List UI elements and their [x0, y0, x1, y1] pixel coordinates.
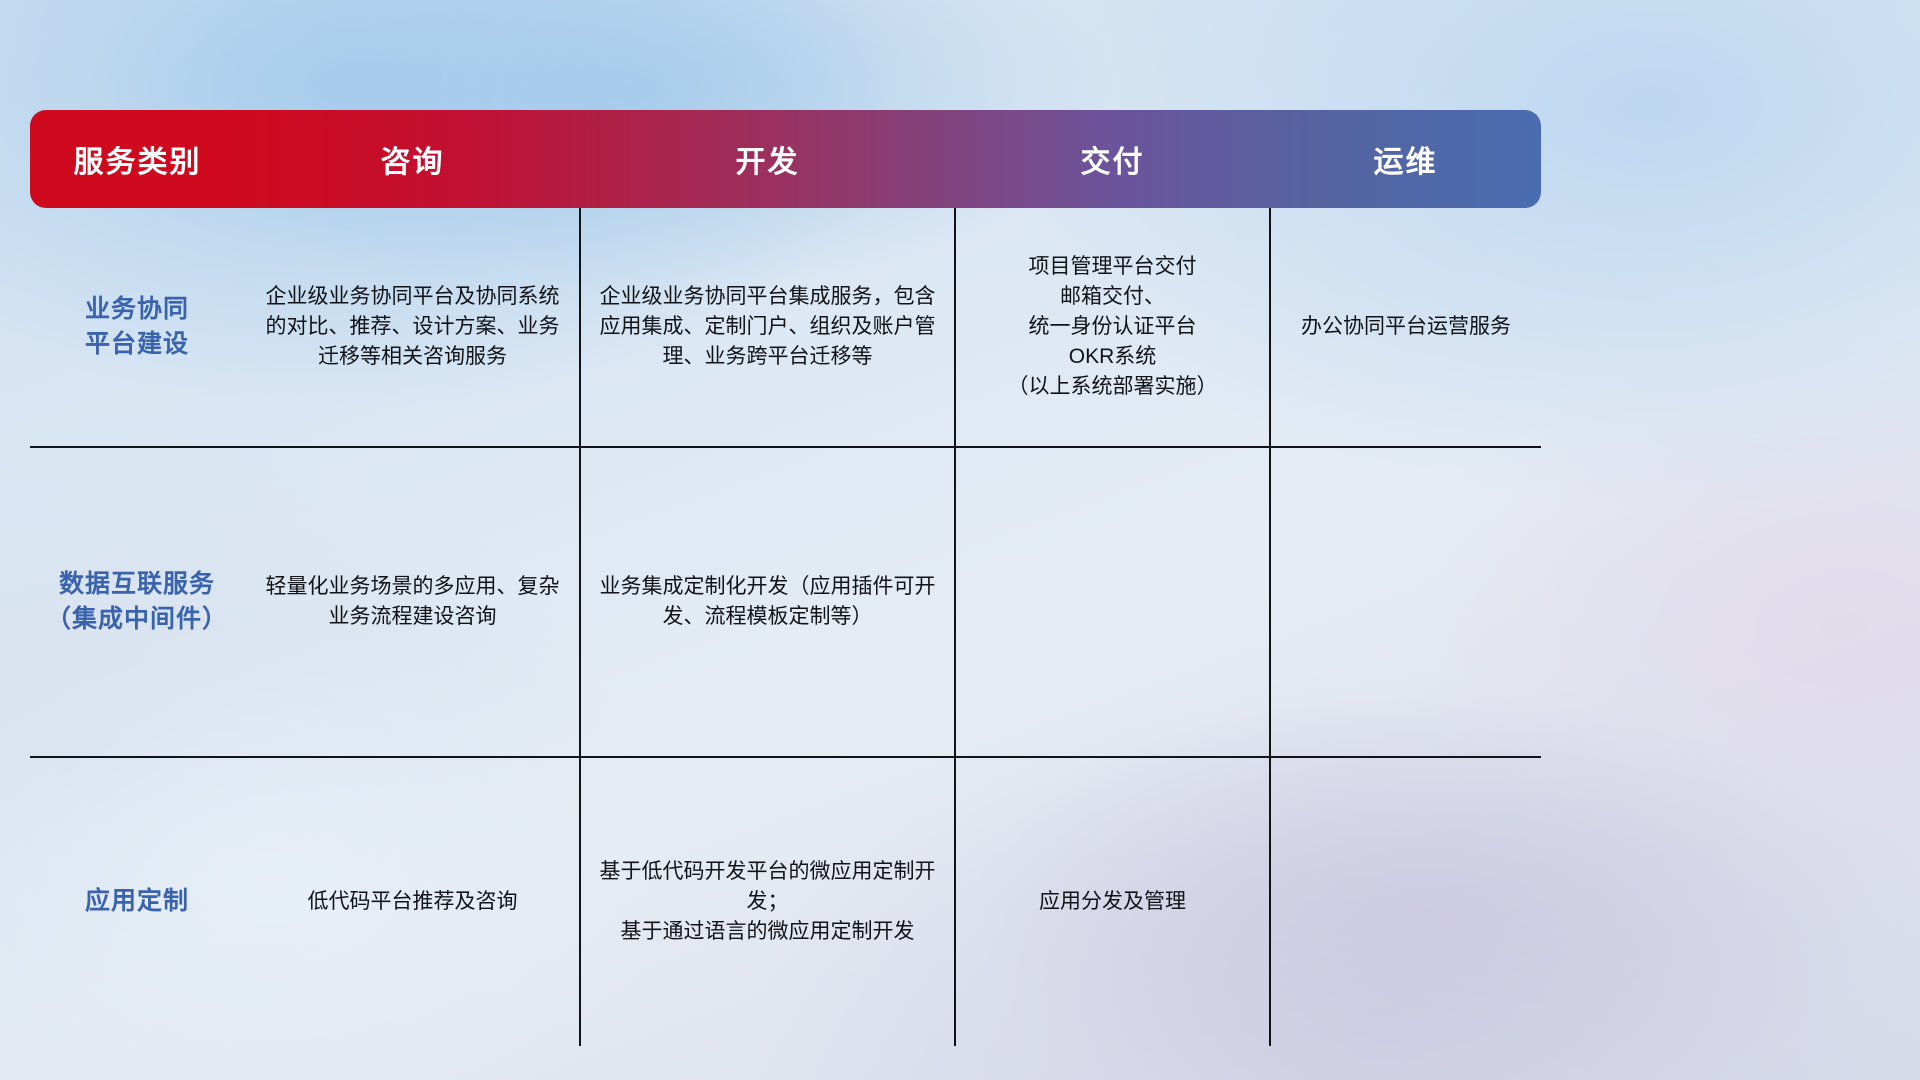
column-header-operations-label: 运维 [1270, 137, 1541, 181]
column-header-development-label: 开发 [580, 137, 955, 181]
column-header-category-label: 服务类别 [30, 137, 245, 181]
cell-r2-operations [1270, 447, 1541, 757]
column-header-operations: 运维 [1270, 110, 1541, 208]
cell-r1-development: 企业级业务协同平台集成服务，包含应用集成、定制门户、组织及账户管理、业务跨平台迁… [580, 208, 955, 447]
cell-r3-delivery: 应用分发及管理 [955, 757, 1270, 1046]
row-label-application-customization: 应用定制 [30, 757, 245, 1046]
cell-r1-operations: 办公协同平台运营服务 [1270, 208, 1541, 447]
column-header-consulting-label: 咨询 [245, 137, 580, 181]
cell-r1-delivery: 项目管理平台交付 邮箱交付、 统一身份认证平台 OKR系统 （以上系统部署实施） [955, 208, 1270, 447]
row-label-business-collaboration: 业务协同 平台建设 [30, 208, 245, 447]
column-header-consulting: 咨询 [245, 110, 580, 208]
slide-canvas: 服务类别 咨询 开发 交付 运维 [0, 0, 1920, 1080]
column-header-development: 开发 [580, 110, 955, 208]
cell-r1-consulting: 企业级业务协同平台及协同系统的对比、推荐、设计方案、业务迁移等相关咨询服务 [245, 208, 580, 447]
row-label-data-interconnect: 数据互联服务 （集成中间件） [30, 447, 245, 757]
column-header-delivery-label: 交付 [955, 137, 1270, 181]
cell-r2-delivery [955, 447, 1270, 757]
table-row: 应用定制 低代码平台推荐及咨询 基于低代码开发平台的微应用定制开发； 基于通过语… [30, 757, 1541, 1046]
table-header-row: 服务类别 咨询 开发 交付 运维 [30, 110, 1541, 208]
cell-r3-consulting: 低代码平台推荐及咨询 [245, 757, 580, 1046]
column-header-category: 服务类别 [30, 110, 245, 208]
table-row: 数据互联服务 （集成中间件） 轻量化业务场景的多应用、复杂业务流程建设咨询 业务… [30, 447, 1541, 757]
table-header: 服务类别 咨询 开发 交付 运维 [30, 110, 1541, 208]
service-table: 服务类别 咨询 开发 交付 运维 [30, 110, 1541, 1046]
table-row: 业务协同 平台建设 企业级业务协同平台及协同系统的对比、推荐、设计方案、业务迁移… [30, 208, 1541, 447]
service-matrix-table: 服务类别 咨询 开发 交付 运维 [30, 110, 1541, 1046]
cell-r3-operations [1270, 757, 1541, 1046]
cell-r2-consulting: 轻量化业务场景的多应用、复杂业务流程建设咨询 [245, 447, 580, 757]
cell-r2-development: 业务集成定制化开发（应用插件可开发、流程模板定制等） [580, 447, 955, 757]
cell-r3-development: 基于低代码开发平台的微应用定制开发； 基于通过语言的微应用定制开发 [580, 757, 955, 1046]
column-header-delivery: 交付 [955, 110, 1270, 208]
table-body: 业务协同 平台建设 企业级业务协同平台及协同系统的对比、推荐、设计方案、业务迁移… [30, 208, 1541, 1046]
